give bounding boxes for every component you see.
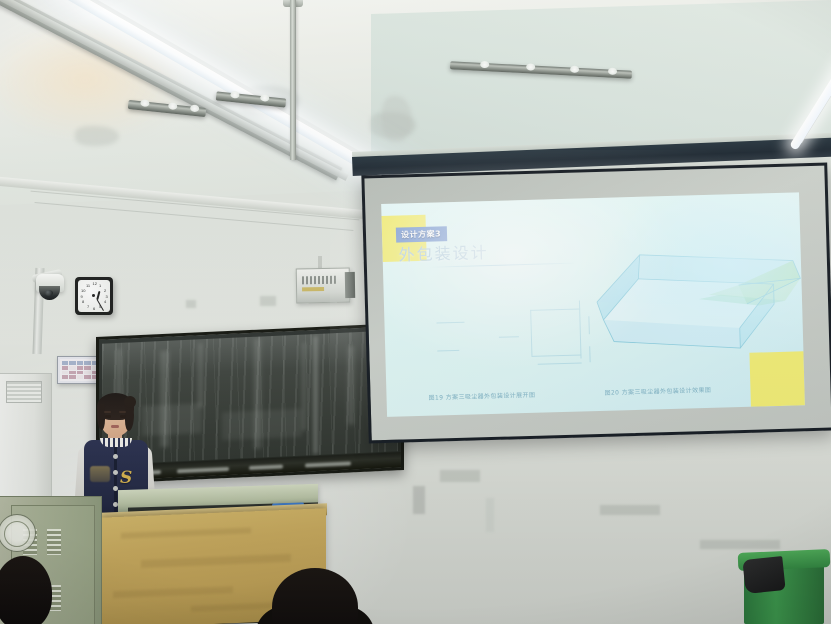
box-3d-illustration (587, 230, 805, 371)
wall-outlet[interactable] (413, 486, 425, 514)
ceiling-patch (75, 126, 119, 146)
wall-mark (186, 300, 196, 308)
hair-side-left (97, 404, 105, 430)
presenter-mouth (111, 425, 119, 428)
wall-pipe (486, 498, 494, 532)
classroom-scene: 12 1 2 3 4 5 6 7 8 9 10 11 (0, 0, 831, 624)
unfolded-box-diagram (436, 290, 599, 390)
ceiling-pipe (290, 0, 296, 160)
control-box-handle[interactable] (345, 272, 355, 298)
projector-screen: 设计方案3 外包装设计 (361, 163, 831, 444)
clock-hour-hand (96, 290, 100, 299)
wall-clock-icon: 12 1 2 3 4 5 6 7 8 9 10 11 (75, 277, 113, 315)
slide-surface: 设计方案3 外包装设计 (381, 192, 805, 417)
control-box-label (302, 276, 336, 285)
trash-bag (742, 556, 785, 594)
figure-caption-right: 图20 方案三吸尘器外包装设计效果图 (604, 385, 711, 397)
wall-mark (700, 540, 780, 549)
figure-caption-left: 图19 方案三吸尘器外包装设计展开图 (428, 390, 535, 402)
wall-mark (260, 296, 276, 306)
cabinet-vent (6, 381, 42, 403)
jacket-collar (100, 438, 132, 447)
ceiling-patch (382, 96, 412, 142)
camera-lens (45, 290, 53, 296)
wall-mark (600, 505, 660, 515)
control-box-sticker (302, 287, 324, 291)
wall-control-box[interactable] (296, 268, 351, 304)
jacket-logo: S (120, 468, 132, 488)
jacket-patch (90, 466, 110, 482)
slide-title: 外包装设计 (398, 239, 489, 266)
wall-mark (440, 470, 480, 482)
hair-side-right (125, 404, 134, 431)
hair-bun (124, 396, 136, 408)
